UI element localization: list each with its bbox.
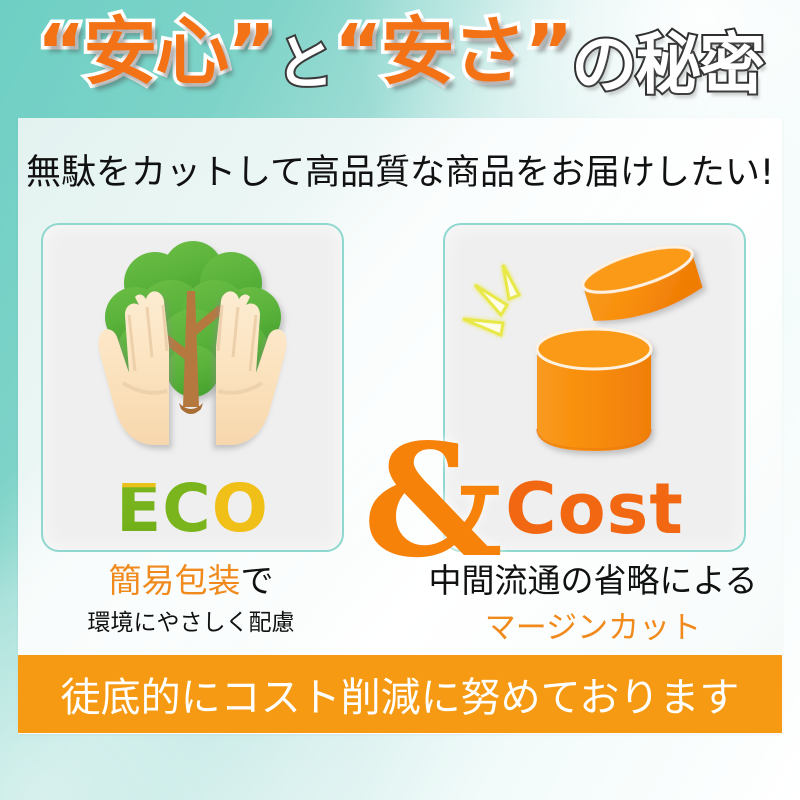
ampersand-connector: & (363, 423, 483, 578)
title-quote-open: “ (37, 14, 84, 92)
caption-eco-line1-tail: で (241, 561, 274, 600)
title-quote-close-2: ” (525, 14, 572, 92)
eco-wordmark: ECO (43, 476, 342, 542)
title-keyword-yasusa: 安さ (381, 14, 525, 92)
title-conjunction: と (276, 33, 332, 94)
card-subtitle: 無駄をカットして高品質な商品をお届けしたい! (18, 144, 782, 195)
title-keyword-anshin: 安心 (83, 14, 227, 92)
footer-banner: 徒底的にコスト削減に努めております (18, 655, 782, 733)
can-body (537, 329, 651, 451)
caption-eco-line1-highlight: 簡易包装 (109, 561, 241, 600)
eco-letter-c: C (162, 470, 211, 547)
panel-eco: ECO (41, 223, 344, 552)
title-suffix-himitsu: の秘密 (571, 30, 763, 99)
eco-letter-o: O (212, 470, 269, 547)
can-lid (578, 238, 705, 330)
title-quote-close-1: ” (227, 14, 274, 92)
caption-eco: 簡易包装で 環境にやさしく配慮 (26, 562, 356, 637)
page-title: “安心”と“安さ”の秘密 (0, 14, 800, 92)
eco-letter-e: E (116, 470, 162, 547)
caption-eco-line2: 環境にやさしく配慮 (26, 603, 356, 637)
caption-eco-line1: 簡易包装で (26, 562, 356, 601)
content-card: 無駄をカットして高品質な商品をお届けしたい! (18, 118, 782, 734)
title-quote-open-2: “ (334, 14, 381, 92)
sparkle-lines (463, 265, 519, 335)
caption-cost-line2: マージンカット (428, 602, 758, 647)
infographic-root: “安心”と“安さ”の秘密 無駄をカットして高品質な商品をお届けしたい! (0, 0, 800, 800)
footer-text: 徒底的にコスト削減に努めております (61, 665, 740, 723)
